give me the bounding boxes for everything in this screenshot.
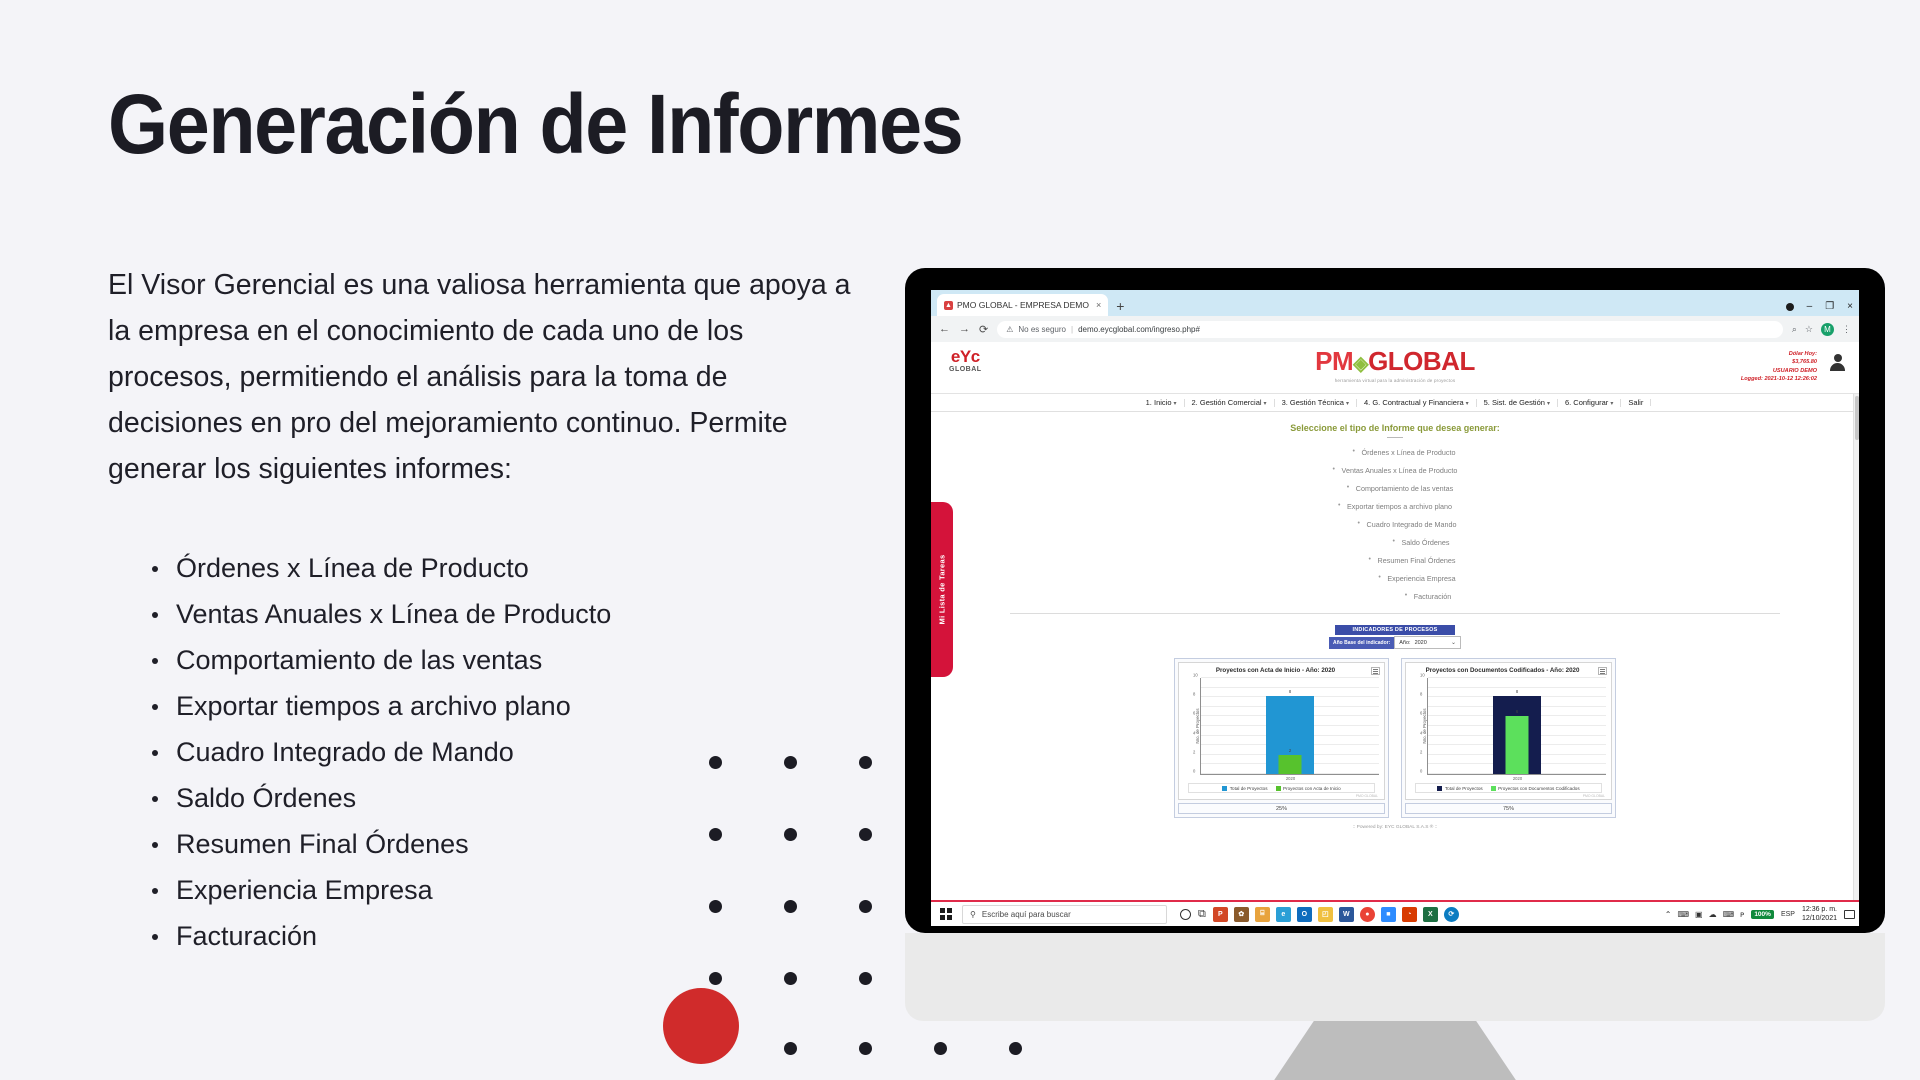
- chart-y-tick: 6: [1420, 711, 1422, 716]
- search-icon: ⚲: [970, 910, 976, 919]
- chart-bar-measured[interactable]: [1506, 716, 1529, 774]
- content-column: Generación de Informes El Visor Gerencia…: [108, 0, 868, 1080]
- zoom-icon[interactable]: ■: [1381, 907, 1396, 922]
- chart-watermark: PMO GLOBAL: [1409, 794, 1608, 798]
- report-link[interactable]: Saldo Órdenes: [1393, 537, 1450, 549]
- chevron-down-icon: ▾: [1547, 401, 1550, 407]
- chart-percent-label: 25%: [1178, 803, 1385, 814]
- chevron-down-icon: ▾: [1466, 401, 1469, 407]
- excel-icon[interactable]: X: [1423, 907, 1438, 922]
- report-link[interactable]: Experiencia Empresa: [1378, 573, 1455, 585]
- zoom-icon[interactable]: ⌕: [1792, 324, 1797, 335]
- browser-toolbar: ← → ⟳ ⚠ No es seguro | demo.eycglobal.co…: [931, 316, 1859, 342]
- monitor-chin: [905, 933, 1885, 1021]
- chart-y-tick: 10: [1193, 673, 1198, 678]
- cortana-icon[interactable]: [1180, 909, 1191, 920]
- report-link[interactable]: Órdenes x Línea de Producto: [1353, 447, 1456, 459]
- chart-y-tick: 4: [1193, 730, 1195, 735]
- chart-legend-item[interactable]: Total de Proyectos: [1437, 786, 1482, 791]
- taskbar-search-placeholder: Escribe aquí para buscar: [982, 910, 1071, 919]
- tasks-side-tab[interactable]: Mi Lista de Tareas: [931, 502, 953, 677]
- start-button[interactable]: [935, 908, 957, 920]
- chart-panel: Proyectos con Documentos Codificados - A…: [1401, 658, 1616, 818]
- chart-x-tick: 2020: [1200, 776, 1381, 781]
- tray-icon[interactable]: ⌃: [1665, 910, 1672, 919]
- chart-y-axis-label: Nro. de Proyectos: [1422, 708, 1427, 743]
- security-label: No es seguro: [1018, 325, 1066, 334]
- browser-tab[interactable]: ▲ PMO GLOBAL - EMPRESA DEMO ×: [937, 294, 1108, 316]
- report-link[interactable]: Facturación: [1405, 591, 1452, 603]
- close-window-button[interactable]: ×: [1847, 301, 1853, 312]
- report-bullet-item: Resumen Final Órdenes: [146, 821, 611, 867]
- chart-y-tick: 10: [1420, 673, 1425, 678]
- header-info-line: $3,765.80: [1741, 358, 1817, 366]
- eyc-logo: eYc GLOBAL: [949, 348, 982, 373]
- chart-y-tick: 6: [1193, 711, 1195, 716]
- chart-menu-icon[interactable]: [1598, 667, 1607, 675]
- chrome-icon[interactable]: ●: [1360, 907, 1375, 922]
- report-bullet-item: Exportar tiempos a archivo plano: [146, 683, 611, 729]
- content-divider: [1010, 613, 1780, 614]
- office-icon[interactable]: ◔: [1402, 907, 1417, 922]
- gimp-icon[interactable]: ✿: [1234, 907, 1249, 922]
- tray-icon[interactable]: ☁: [1709, 910, 1717, 919]
- page-scrollbar[interactable]: [1853, 394, 1859, 900]
- window-controls: – ❐ ×: [1786, 301, 1853, 312]
- chart-y-axis-label: Nro. de Proyectos: [1195, 708, 1200, 743]
- chart-legend-item[interactable]: Total de Proyectos: [1222, 786, 1267, 791]
- eyc-logo-sub: GLOBAL: [949, 366, 982, 373]
- charts-container: Proyectos con Acta de Inicio - Año: 2020…: [931, 658, 1859, 818]
- taskbar-search-input[interactable]: ⚲ Escribe aquí para buscar: [962, 905, 1167, 924]
- kpi-year-row: Año Base del indicador: Año: 2020 ⌄: [1329, 636, 1461, 649]
- monitor-stand: [1250, 1021, 1540, 1080]
- maximize-button[interactable]: ❐: [1825, 301, 1834, 312]
- chart-y-tick: 0: [1193, 769, 1195, 774]
- chart-legend-item[interactable]: Proyectos con Acta de Inicio: [1276, 786, 1341, 791]
- forward-icon[interactable]: →: [959, 323, 970, 335]
- legend-label: Proyectos con Documentos Codificados: [1498, 786, 1579, 791]
- report-bullet-item: Órdenes x Línea de Producto: [146, 545, 611, 591]
- chart-y-tick: 2: [1420, 749, 1422, 754]
- powerpoint-icon[interactable]: P: [1213, 907, 1228, 922]
- legend-swatch: [1437, 786, 1442, 791]
- tray-icon[interactable]: ▣: [1695, 910, 1703, 919]
- chart-legend-item[interactable]: Proyectos con Documentos Codificados: [1491, 786, 1580, 791]
- back-icon[interactable]: ←: [939, 323, 950, 335]
- header-info-line: Dólar Hoy:: [1741, 350, 1817, 358]
- kpi-select-value: 2020: [1415, 640, 1427, 646]
- legend-label: Total de Proyectos: [1230, 786, 1268, 791]
- chevron-down-icon: ⌄: [1451, 639, 1456, 646]
- chevron-down-icon: ▾: [1346, 401, 1349, 407]
- bookmark-star-icon[interactable]: ☆: [1805, 324, 1813, 335]
- menu-item-label: Salir: [1628, 398, 1643, 407]
- menu-item-3[interactable]: 3. Gestión Técnica▾: [1275, 399, 1357, 407]
- intro-paragraph: El Visor Gerencial es una valiosa herram…: [108, 262, 853, 492]
- report-link[interactable]: Comportamiento de las ventas: [1347, 483, 1453, 495]
- chart-bar-value-measured: 6: [1516, 709, 1518, 714]
- user-avatar-icon[interactable]: [1828, 354, 1847, 373]
- menu-item-6[interactable]: 6. Configurar▾: [1558, 399, 1621, 407]
- chart-title: Proyectos con Acta de Inicio - Año: 2020: [1182, 667, 1381, 674]
- eyc-logo-mark: eYc: [949, 348, 982, 365]
- address-bar[interactable]: ⚠ No es seguro | demo.eycglobal.com/ingr…: [997, 321, 1783, 338]
- report-section-title: Seleccione el tipo de Informe que desea …: [931, 423, 1859, 433]
- language-indicator[interactable]: ESP: [1781, 911, 1795, 918]
- chart-gridline: [1201, 677, 1379, 678]
- chart-gridline: [1428, 677, 1606, 678]
- menu-item-4[interactable]: 4. G. Contractual y Financiera▾: [1357, 399, 1477, 407]
- app-footer: :: Powered by: EYC GLOBAL S.A.S ® ::: [931, 825, 1859, 830]
- browser-tabstrip: ▲ PMO GLOBAL - EMPRESA DEMO × + – ❐ ×: [931, 290, 1859, 316]
- pmo-brand: PM◈GLOBAL herramienta virtual para la ad…: [1315, 346, 1475, 383]
- outlook-icon[interactable]: O: [1297, 907, 1312, 922]
- word-icon[interactable]: W: [1339, 907, 1354, 922]
- report-link[interactable]: Cuadro Integrado de Mando: [1358, 519, 1457, 531]
- chart-watermark: PMO GLOBAL: [1182, 794, 1381, 798]
- report-bullet-item: Facturación: [146, 913, 611, 959]
- windows-logo-icon: [940, 908, 952, 920]
- header-info-line: USUARIO DEMO: [1741, 367, 1817, 375]
- menu-item-2[interactable]: 2. Gestión Comercial▾: [1185, 399, 1275, 407]
- chart-plot-area: Nro. de Proyectos024681082: [1200, 678, 1379, 775]
- task-view-icon[interactable]: ⧉: [1198, 908, 1206, 921]
- chart-gridline-minor: [1201, 687, 1379, 688]
- menu-item-label: 1. Inicio: [1146, 398, 1172, 407]
- chevron-down-icon: ▾: [1610, 401, 1613, 407]
- url-text: demo.eycglobal.com/ingreso.php#: [1078, 325, 1200, 334]
- report-bullet-item: Ventas Anuales x Línea de Producto: [146, 591, 611, 637]
- chart-y-tick: 0: [1420, 769, 1422, 774]
- menu-item-1[interactable]: 1. Inicio▾: [1139, 399, 1185, 407]
- report-link[interactable]: Resumen Final Órdenes: [1369, 555, 1456, 567]
- chart-bar-value-measured: 2: [1289, 748, 1291, 753]
- menu-item-label: 5. Sist. de Gestión: [1484, 398, 1545, 407]
- report-bullet-item: Comportamiento de las ventas: [146, 637, 611, 683]
- tasks-side-tab-label: Mi Lista de Tareas: [938, 555, 947, 625]
- chart-y-tick: 4: [1420, 730, 1422, 735]
- teamviewer-icon[interactable]: ⟳: [1444, 907, 1459, 922]
- pmo-brand-tagline: herramienta virtual para la administraci…: [1315, 378, 1475, 383]
- report-bullet-item: Saldo Órdenes: [146, 775, 611, 821]
- report-bullet-item: Experiencia Empresa: [146, 867, 611, 913]
- chart-menu-icon[interactable]: [1371, 667, 1380, 675]
- menu-item-label: 2. Gestión Comercial: [1192, 398, 1262, 407]
- legend-label: Total de Proyectos: [1445, 786, 1483, 791]
- chart-gridline-minor: [1428, 687, 1606, 688]
- reload-icon[interactable]: ⟳: [979, 323, 988, 336]
- chart-card: Proyectos con Acta de Inicio - Año: 2020…: [1178, 662, 1385, 800]
- report-link[interactable]: Exportar tiempos a archivo plano: [1338, 501, 1452, 513]
- chart-bar-value-total: 8: [1289, 689, 1291, 694]
- chevron-down-icon: ▾: [1174, 401, 1177, 407]
- chevron-down-icon: ▾: [1264, 401, 1267, 407]
- chart-bar-value-total: 8: [1516, 689, 1518, 694]
- report-link[interactable]: Ventas Anuales x Línea de Producto: [1333, 465, 1458, 477]
- tray-icon[interactable]: ⌨: [1677, 910, 1689, 919]
- kpi-year-select[interactable]: Año: 2020 ⌄: [1394, 636, 1461, 649]
- notification-icon[interactable]: [1844, 910, 1855, 919]
- chart-title: Proyectos con Documentos Codificados - A…: [1409, 667, 1608, 674]
- header-user-info: Dólar Hoy:$3,765.80USUARIO DEMOLogged: 2…: [1741, 350, 1817, 384]
- photos-icon[interactable]: ◰: [1318, 907, 1333, 922]
- chart-bar-measured[interactable]: [1279, 755, 1302, 774]
- taskbar-app-icons: ⧉ P✿⌸eO◰W●■◔X⟳: [1180, 907, 1459, 922]
- monitor-bezel: ▲ PMO GLOBAL - EMPRESA DEMO × + – ❐ × ← …: [905, 268, 1885, 933]
- chart-x-tick: 2020: [1427, 776, 1608, 781]
- not-secure-warning-icon: ⚠: [1006, 325, 1013, 334]
- chart-y-tick: 8: [1193, 692, 1195, 697]
- page-title: Generación de Informes: [108, 76, 962, 173]
- tab-close-icon[interactable]: ×: [1096, 300, 1101, 310]
- menu-item-5[interactable]: 5. Sist. de Gestión▾: [1477, 399, 1558, 407]
- monitor-mockup: ▲ PMO GLOBAL - EMPRESA DEMO × + – ❐ × ← …: [905, 268, 1885, 1080]
- menu-item-7[interactable]: Salir: [1621, 399, 1651, 407]
- taskbar-clock[interactable]: 12:36 p. m. 12/10/2021: [1802, 905, 1837, 923]
- report-bullet-list: Órdenes x Línea de ProductoVentas Anuale…: [146, 545, 611, 959]
- pmo-brand-title: PM◈GLOBAL: [1315, 346, 1475, 377]
- chart-legend: Total de ProyectosProyectos con Acta de …: [1188, 783, 1375, 793]
- profile-avatar[interactable]: M: [1821, 323, 1834, 336]
- chart-y-tick: 2: [1193, 749, 1195, 754]
- menu-item-label: 3. Gestión Técnica: [1282, 398, 1344, 407]
- kpi-year-label: Año Base del indicador:: [1329, 637, 1394, 649]
- taskbar-tray: ⌃⌨▣☁⌨ᴘ 100% ESP 12:36 p. m. 12/10/2021: [1665, 905, 1855, 923]
- pmo-brand-global: GLOBAL: [1368, 346, 1475, 376]
- header-info-line: Logged: 2021-10-12 12:26:02: [1741, 375, 1817, 383]
- app-header: eYc GLOBAL PM◈GLOBAL herramienta virtual…: [931, 342, 1859, 394]
- toolbar-right-actions: ⌕ ☆ M ⋮: [1792, 323, 1851, 336]
- kpi-select-label: Año:: [1399, 640, 1410, 646]
- chart-percent-label: 75%: [1405, 803, 1612, 814]
- minimize-button[interactable]: –: [1807, 301, 1813, 312]
- chart-plot-area: Nro. de Proyectos024681086: [1427, 678, 1606, 775]
- clock-date: 12/10/2021: [1802, 914, 1837, 923]
- menu-item-label: 6. Configurar: [1565, 398, 1608, 407]
- web-page: eYc GLOBAL PM◈GLOBAL herramienta virtual…: [931, 342, 1859, 900]
- legend-swatch: [1491, 786, 1496, 791]
- legend-label: Proyectos con Acta de Inicio: [1283, 786, 1341, 791]
- legend-swatch: [1222, 786, 1227, 791]
- chart-y-tick: 8: [1420, 692, 1422, 697]
- report-link-list: Órdenes x Línea de ProductoVentas Anuale…: [931, 442, 1859, 604]
- tray-icon[interactable]: ᴘ: [1740, 910, 1744, 919]
- battery-badge: 100%: [1751, 910, 1774, 919]
- report-bullet-item: Cuadro Integrado de Mando: [146, 729, 611, 775]
- tray-icon[interactable]: ⌨: [1723, 910, 1735, 919]
- legend-swatch: [1276, 786, 1281, 791]
- omnibox-divider: |: [1071, 325, 1073, 334]
- edge-icon[interactable]: e: [1276, 907, 1291, 922]
- menu-item-label: 4. G. Contractual y Financiera: [1364, 398, 1464, 407]
- windows-taskbar: ⚲ Escribe aquí para buscar ⧉ P✿⌸eO◰W●■◔X…: [931, 900, 1859, 926]
- kpi-panel-header: INDICADORES DE PROCESOS: [1335, 625, 1455, 635]
- new-tab-button[interactable]: +: [1116, 298, 1124, 316]
- tab-title: PMO GLOBAL - EMPRESA DEMO: [957, 300, 1089, 310]
- clock-time: 12:36 p. m.: [1802, 905, 1837, 914]
- pmo-brand-pm: PM: [1315, 346, 1353, 376]
- chart-card: Proyectos con Documentos Codificados - A…: [1405, 662, 1612, 800]
- app-menubar: 1. Inicio▾2. Gestión Comercial▾3. Gestió…: [931, 394, 1859, 412]
- file-explorer-icon[interactable]: ⌸: [1255, 907, 1270, 922]
- tab-favicon-icon: ▲: [944, 301, 953, 310]
- title-divider: [1387, 437, 1403, 438]
- screen: ▲ PMO GLOBAL - EMPRESA DEMO × + – ❐ × ← …: [931, 290, 1859, 926]
- chrome-menu-icon[interactable]: ⋮: [1842, 324, 1851, 335]
- extension-dot-icon[interactable]: [1786, 303, 1794, 311]
- chart-legend: Total de ProyectosProyectos con Document…: [1415, 783, 1602, 793]
- chart-panel: Proyectos con Acta de Inicio - Año: 2020…: [1174, 658, 1389, 818]
